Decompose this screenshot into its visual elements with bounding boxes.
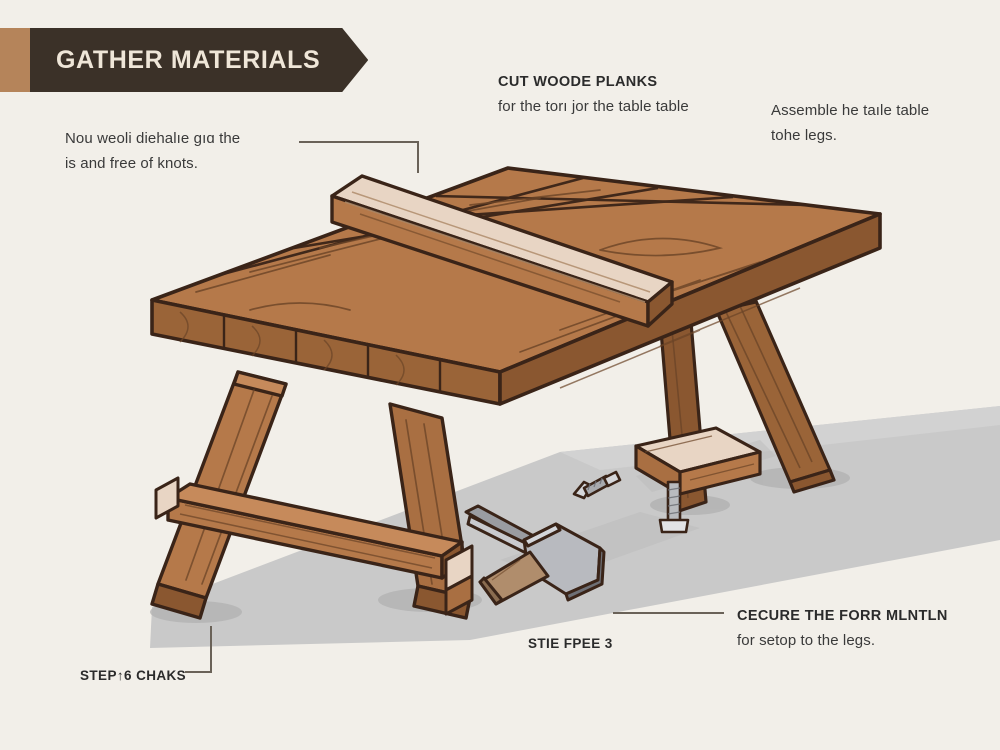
annotation-select-wood-head: Nou weoli diehalıe gıɑ the <box>65 130 240 147</box>
banner-body: GATHER MATERIALS <box>30 28 368 92</box>
annotation-select-wood-body: is and free of knots. <box>65 155 240 172</box>
annotation-cut-planks: CUT WOODE PLANKS for the torı jor the ta… <box>498 74 689 115</box>
annotation-cut-planks-body: for the torı jor the table table <box>498 98 689 115</box>
annotation-secure-frame-body: for setop to the legs. <box>737 632 948 649</box>
annotation-cut-planks-head: CUT WOODE PLANKS <box>498 74 689 90</box>
instructional-diagram: GATHER MATERIALS Nou weoli diehalıe gıɑ … <box>0 0 1000 750</box>
annotation-secure-frame: CECURE THE FORR MLNTLN for setop to the … <box>737 608 948 649</box>
step-caption-six: STEP↑6 CHAKS <box>80 668 186 683</box>
banner-title: GATHER MATERIALS <box>56 46 320 75</box>
annotation-assemble-legs: Assemble he taıle table tohe legs. <box>771 102 929 144</box>
annotation-select-wood: Nou weoli diehalıe gıɑ the is and free o… <box>65 130 240 172</box>
annotation-assemble-legs-body: tohe legs. <box>771 127 929 144</box>
annotation-assemble-legs-head: Assemble he taıle table <box>771 102 929 119</box>
annotation-secure-frame-head: CECURE THE FORR MLNTLN <box>737 608 948 624</box>
banner-accent-tab <box>0 28 30 92</box>
step-caption-three: STIE FPEE 3 <box>528 636 613 651</box>
gather-materials-banner: GATHER MATERIALS <box>0 28 368 92</box>
